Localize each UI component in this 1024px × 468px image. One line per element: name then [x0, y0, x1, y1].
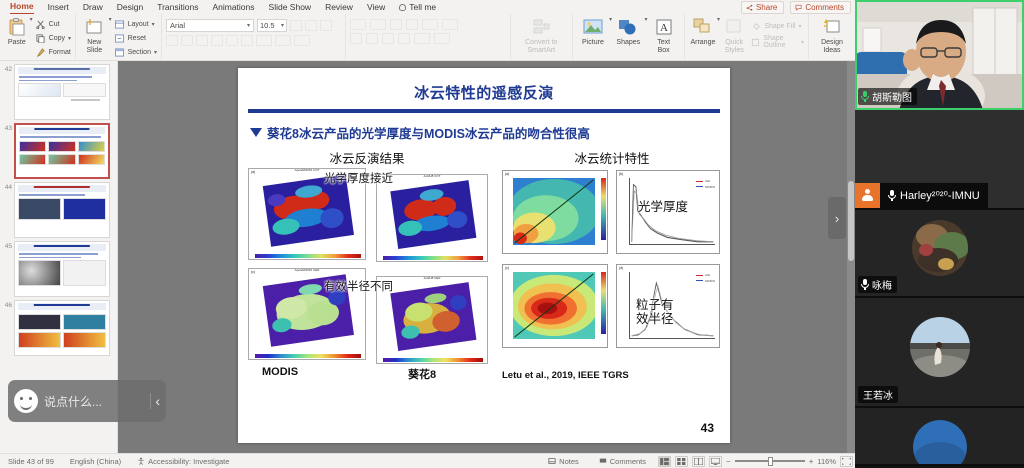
participant-name: 胡斯勒图: [872, 89, 912, 104]
font-name-value: Arial: [170, 21, 185, 30]
bold-button[interactable]: [166, 35, 178, 46]
reset-button[interactable]: Reset: [115, 32, 157, 44]
section-icon: [115, 47, 125, 57]
participant-tile-harley[interactable]: Harley²⁰²⁰-IMNU: [855, 110, 1024, 210]
ribbon-group-font: Arial ▾ 10.5 ▾: [162, 14, 346, 61]
increase-font-size-button[interactable]: [290, 20, 302, 31]
copy-dropdown-caret[interactable]: ▾: [68, 35, 71, 42]
numbering-button[interactable]: [370, 19, 386, 30]
thumbnail-preview[interactable]: [14, 182, 110, 238]
map-colorbar: [255, 254, 361, 258]
fit-to-window-button[interactable]: [840, 456, 853, 467]
histogram-legend: AHI MODIS: [696, 273, 715, 283]
text-box-line2: Box: [658, 47, 670, 54]
avatar-photo: [912, 220, 968, 276]
ribbon-group-smartart: Convert to SmartArt: [511, 14, 573, 61]
shapes-icon: [617, 16, 639, 38]
thumbnail-number: 46: [2, 300, 12, 309]
powerpoint-window: Home Insert Draw Design Transitions Anim…: [0, 0, 855, 468]
right-heading: 冰云统计特性: [496, 148, 728, 167]
font-name-combobox[interactable]: Arial ▾: [166, 19, 254, 32]
thumbnail-number: 43: [2, 123, 12, 132]
panel-label-c: (c): [505, 266, 509, 270]
left-heading: 冰云反演结果: [238, 148, 496, 167]
participant-tile-partial[interactable]: [855, 408, 1024, 466]
map-himawari-optical-depth: AHI/H8 COT: [376, 174, 488, 262]
tab-home[interactable]: Home: [3, 0, 41, 14]
align-right-button[interactable]: [382, 33, 394, 44]
avatar: [912, 220, 968, 276]
status-bar-right: Notes Comments: [540, 456, 853, 467]
new-slide-icon: [83, 16, 105, 38]
stat-label-eff-line2: 效半径: [636, 312, 674, 326]
stat-label-optical-depth: 光学厚度: [638, 196, 688, 215]
font-size-combobox[interactable]: 10.5 ▾: [257, 19, 287, 32]
ribbon-tab-bar: Home Insert Draw Design Transitions Anim…: [0, 0, 855, 14]
person-icon: [861, 189, 874, 202]
share-button[interactable]: Share: [741, 1, 784, 14]
layout-button[interactable]: Layout ▾: [115, 18, 157, 30]
italic-button[interactable]: [181, 35, 193, 46]
tab-review[interactable]: Review: [318, 1, 360, 14]
thumbnail-item[interactable]: 44: [0, 179, 117, 238]
thumbnail-preview[interactable]: [14, 123, 110, 179]
thumbnail-number: 44: [2, 182, 12, 191]
quick-styles-line2: Styles: [725, 47, 744, 54]
shadow-button[interactable]: [226, 35, 238, 46]
zoom-slider-handle[interactable]: [768, 457, 773, 466]
slide-title: 冰云特性的遥感反演: [238, 82, 730, 103]
triangle-bullet-icon: [250, 128, 262, 137]
thumbnail-preview[interactable]: [14, 241, 110, 297]
picture-label: Picture: [582, 39, 604, 47]
text-box-icon: A: [653, 16, 675, 38]
chevron-right-icon[interactable]: ›: [828, 197, 846, 239]
text-box-button[interactable]: A Text Box: [647, 16, 679, 54]
paste-button[interactable]: Paste: [4, 16, 30, 47]
text-highlight-color-button[interactable]: [275, 35, 291, 46]
section-dropdown-caret[interactable]: ▾: [154, 49, 157, 56]
scatter-colorbar: [601, 178, 606, 240]
section-button[interactable]: Section ▾: [115, 46, 157, 58]
font-size-value: 10.5: [260, 21, 275, 30]
map-colorbar: [383, 358, 483, 362]
svg-text:A: A: [660, 22, 668, 34]
slide-bullet-row: 葵花8冰云产品的光学厚度与MODIS冰云产品的吻合性很高: [250, 123, 730, 142]
avatar-photo: [910, 317, 970, 377]
slide-citation: Letu et al., 2019, IEEE TGRS: [502, 370, 629, 381]
section-label: Section: [128, 49, 151, 56]
stat-label-eff-line1: 粒子有: [636, 298, 674, 312]
lightbulb-icon: [399, 4, 406, 11]
microphone-icon: [888, 190, 896, 201]
statistics-figures-column: 冰云统计特性 (a): [496, 148, 728, 443]
ribbon-group-slides: New Slide ▾ Layout ▾: [76, 14, 162, 61]
slide-page-number: 43: [701, 421, 714, 435]
reset-label: Reset: [128, 35, 146, 42]
slide-body: 冰云反演结果 光学厚度接近 有效半径不同 Aqua/MODIS COT (a): [238, 148, 730, 443]
shape-outline-label: Shape Outline: [763, 35, 798, 49]
comment-bubble-icon: [795, 4, 802, 11]
line-spacing-button[interactable]: [422, 19, 438, 30]
meeting-screenshare-screen: Home Insert Draw Design Transitions Anim…: [0, 0, 1024, 468]
text-box-line1: Text: [657, 39, 670, 46]
paste-icon: [6, 16, 28, 38]
title-divider: [248, 109, 720, 113]
increase-indent-button[interactable]: [406, 19, 418, 30]
label-himawari: 葵花8: [408, 366, 436, 382]
slide-counter[interactable]: Slide 43 of 99: [0, 457, 62, 466]
window-actions: Share Comments: [741, 1, 851, 14]
thumbnail-item[interactable]: 42: [0, 61, 117, 120]
zoom-out-button[interactable]: −: [726, 457, 731, 466]
tab-design[interactable]: Design: [110, 1, 150, 14]
chat-input[interactable]: 说点什么...: [44, 393, 144, 410]
ribbon: Paste ▾ Cut Copy ▾: [0, 14, 855, 61]
current-slide[interactable]: 冰云特性的遥感反演 葵花8冰云产品的光学厚度与MODIS冰云产品的吻合性很高 冰…: [238, 68, 730, 443]
share-label: Share: [756, 3, 777, 12]
participant-tile-active-speaker[interactable]: 胡斯勒图: [855, 0, 1024, 110]
retrieval-figures-column: 冰云反演结果 光学厚度接近 有效半径不同 Aqua/MODIS COT (a): [238, 148, 496, 443]
arrange-button[interactable]: Arrange: [689, 16, 717, 47]
avatar: [913, 420, 967, 466]
view-slide-sorter-button[interactable]: [675, 456, 688, 467]
arrange-label: Arrange: [690, 39, 715, 47]
map-colorbar: [383, 256, 483, 260]
tab-animations[interactable]: Animations: [205, 1, 261, 14]
cut-label: Cut: [49, 21, 60, 28]
scatter-raster: [513, 272, 595, 339]
accessibility-label: Accessibility: Investigate: [148, 457, 229, 466]
tab-transitions[interactable]: Transitions: [150, 1, 205, 14]
decrease-indent-button[interactable]: [390, 19, 402, 30]
paste-dropdown-caret[interactable]: ▾: [30, 16, 33, 23]
clear-formatting-button[interactable]: [320, 20, 332, 31]
thumbnail-item-selected[interactable]: 43: [0, 120, 117, 179]
shapes-label: Shapes: [616, 39, 640, 47]
participant-name-chip: Harley²⁰²⁰-IMNU: [880, 183, 988, 208]
status-bar: Slide 43 of 99 English (China) Accessibi…: [0, 453, 855, 468]
tab-slide-show[interactable]: Slide Show: [262, 1, 319, 14]
participant-tile-yongmei[interactable]: 咏梅: [855, 210, 1024, 298]
font-name-caret[interactable]: ▾: [247, 22, 250, 29]
tab-insert[interactable]: Insert: [41, 1, 76, 14]
design-ideas-icon: [821, 16, 843, 38]
new-slide-button[interactable]: New Slide: [80, 16, 109, 54]
view-normal-button[interactable]: [658, 456, 671, 467]
chat-composer-overlay[interactable]: 说点什么... ‹: [8, 380, 166, 422]
bullets-button[interactable]: [350, 19, 366, 30]
scatter-colorbar: [601, 272, 606, 334]
participant-name: 王若冰: [863, 387, 893, 402]
tell-me-search[interactable]: Tell me: [392, 1, 443, 14]
character-spacing-button[interactable]: [241, 35, 253, 46]
text-direction-button[interactable]: [442, 19, 458, 30]
paste-label: Paste: [8, 39, 26, 47]
notes-label: Notes: [559, 457, 579, 466]
tell-me-label: Tell me: [409, 1, 436, 14]
participant-name: Harley²⁰²⁰-IMNU: [900, 189, 980, 202]
slide-bullet-text: 葵花8冰云产品的光学厚度与MODIS冰云产品的吻合性很高: [267, 123, 590, 142]
quick-styles-icon: [723, 16, 745, 38]
paintbrush-icon: [36, 47, 46, 57]
note-optical-depth-close: 光学厚度接近: [324, 170, 393, 186]
align-left-button[interactable]: [350, 33, 362, 44]
layout-label: Layout: [128, 21, 149, 28]
change-case-button[interactable]: [256, 35, 272, 46]
copy-label: Copy: [49, 35, 65, 42]
ribbon-group-designer: Design Ideas: [809, 14, 855, 61]
font-color-button[interactable]: [294, 35, 310, 46]
shapes-button[interactable]: Shapes: [612, 16, 644, 47]
new-slide-label-line1: New: [87, 39, 101, 46]
status-comments-button[interactable]: Comments: [591, 457, 654, 466]
view-reading-button[interactable]: [692, 456, 705, 467]
avatar-photo: [913, 420, 967, 466]
scissors-icon: [36, 19, 46, 29]
participant-tile-wangruobing[interactable]: 王若冰: [855, 298, 1024, 408]
font-size-caret[interactable]: ▾: [281, 22, 284, 29]
tab-view[interactable]: View: [360, 1, 392, 14]
cut-button[interactable]: Cut: [36, 18, 71, 30]
scatter-effective-radius: (c): [502, 264, 608, 348]
stat-label-effective-radius: 粒子有 效半径: [636, 298, 674, 326]
thumbnail-number: 42: [2, 64, 12, 73]
comment-icon: [599, 457, 607, 465]
design-ideas-line2: Ideas: [823, 47, 840, 54]
smartart-icon: [530, 16, 552, 38]
canvas-scrollbar-thumb[interactable]: [848, 181, 854, 261]
zoom-slider[interactable]: [735, 456, 805, 467]
reset-icon: [115, 33, 125, 43]
thumbnail-item[interactable]: 46: [0, 297, 117, 356]
notes-button[interactable]: Notes: [540, 457, 587, 466]
picture-button[interactable]: Picture: [577, 16, 609, 47]
shape-fill-caret[interactable]: ▾: [798, 23, 801, 30]
participant-name-chip: 胡斯勒图: [858, 88, 917, 105]
align-center-button[interactable]: [366, 33, 378, 44]
shape-outline-icon: [751, 37, 760, 47]
scatter-raster: [513, 178, 595, 245]
microphone-icon: [861, 279, 869, 290]
scatter-optical-depth: (a): [502, 170, 608, 254]
accessibility-icon: [137, 457, 145, 465]
new-slide-label-line2: Slide: [87, 47, 103, 54]
layout-icon: [115, 19, 125, 29]
panel-label-d: (d): [619, 266, 623, 270]
panel-label-a: (a): [505, 172, 509, 176]
avatar: [910, 317, 970, 377]
format-painter-label: Format: [49, 49, 71, 56]
label-modis: MODIS: [262, 366, 298, 378]
ribbon-group-drawing: Arrange ▾ Quick Styles: [685, 14, 809, 61]
ribbon-group-clipboard: Paste ▾ Cut Copy ▾: [0, 14, 76, 61]
design-ideas-button[interactable]: Design Ideas: [815, 16, 849, 54]
underline-button[interactable]: [196, 35, 208, 46]
emoji-icon[interactable]: [14, 389, 38, 413]
accessibility-status[interactable]: Accessibility: Investigate: [129, 457, 237, 466]
canvas-scrollbar[interactable]: [847, 61, 855, 453]
quick-styles-line1: Quick: [725, 39, 743, 46]
participant-name: 咏梅: [872, 277, 892, 292]
layout-dropdown-caret[interactable]: ▾: [152, 21, 155, 28]
microphone-icon: [861, 91, 869, 102]
thumbnail-preview[interactable]: [14, 300, 110, 356]
language-indicator[interactable]: English (China): [62, 457, 129, 466]
shape-fill-button[interactable]: Shape Fill ▾: [751, 20, 804, 32]
view-slideshow-button[interactable]: [709, 456, 722, 467]
comments-button[interactable]: Comments: [790, 1, 851, 14]
copy-button[interactable]: Copy ▾: [36, 32, 71, 44]
shape-fill-icon: [751, 21, 761, 31]
comments-label: Comments: [805, 3, 844, 12]
notes-icon: [548, 457, 556, 465]
avatar: [855, 183, 880, 208]
zoom-level-label[interactable]: 116%: [817, 457, 836, 466]
chevron-left-icon[interactable]: ‹: [150, 393, 160, 409]
justify-button[interactable]: [398, 33, 410, 44]
convert-to-smartart-button[interactable]: Convert to SmartArt: [515, 16, 568, 54]
format-painter-button[interactable]: Format: [36, 46, 71, 58]
convert-smartart-line1: Convert to: [525, 39, 557, 46]
share-icon: [746, 4, 753, 11]
decrease-font-size-button[interactable]: [305, 20, 317, 31]
ribbon-group-insert: Picture ▾ Shapes ▾: [573, 14, 685, 61]
quick-styles-button[interactable]: Quick Styles: [720, 16, 748, 54]
thumbnail-preview[interactable]: [14, 64, 110, 120]
map-colorbar: [255, 354, 361, 358]
arrange-icon: [692, 16, 714, 38]
align-text-button[interactable]: [434, 33, 450, 44]
panel-label-b: (b): [619, 172, 623, 176]
picture-icon: [582, 16, 604, 38]
columns-button[interactable]: [414, 33, 430, 44]
thumbnail-number: 45: [2, 241, 12, 250]
note-effective-radius-differs: 有效半径不同: [324, 278, 393, 294]
shape-fill-label: Shape Fill: [764, 23, 795, 30]
convert-smartart-line2: SmartArt: [527, 47, 555, 54]
copy-icon: [36, 33, 46, 43]
map-raster: [383, 280, 484, 355]
ribbon-group-paragraph: [346, 14, 511, 61]
thumbnail-item[interactable]: 45: [0, 238, 117, 297]
participant-name-chip: 咏梅: [858, 276, 897, 293]
participant-filmstrip[interactable]: 胡斯勒图 Harley²⁰²⁰-IMNU: [855, 0, 1024, 468]
participant-name-chip: 王若冰: [858, 386, 898, 403]
shape-outline-button[interactable]: Shape Outline ▾: [751, 36, 804, 48]
map-raster: [383, 178, 484, 253]
status-comments-label: Comments: [610, 457, 646, 466]
strikethrough-button[interactable]: [211, 35, 223, 46]
shape-outline-caret[interactable]: ▾: [801, 39, 804, 46]
zoom-in-button[interactable]: +: [809, 457, 814, 466]
tab-draw[interactable]: Draw: [76, 1, 110, 14]
histogram-legend: AHI MODIS: [696, 179, 715, 189]
design-ideas-line1: Design: [821, 39, 843, 46]
slide-canvas-area[interactable]: 冰云特性的遥感反演 葵花8冰云产品的光学厚度与MODIS冰云产品的吻合性很高 冰…: [118, 61, 855, 453]
new-slide-dropdown-caret[interactable]: ▾: [109, 16, 112, 23]
